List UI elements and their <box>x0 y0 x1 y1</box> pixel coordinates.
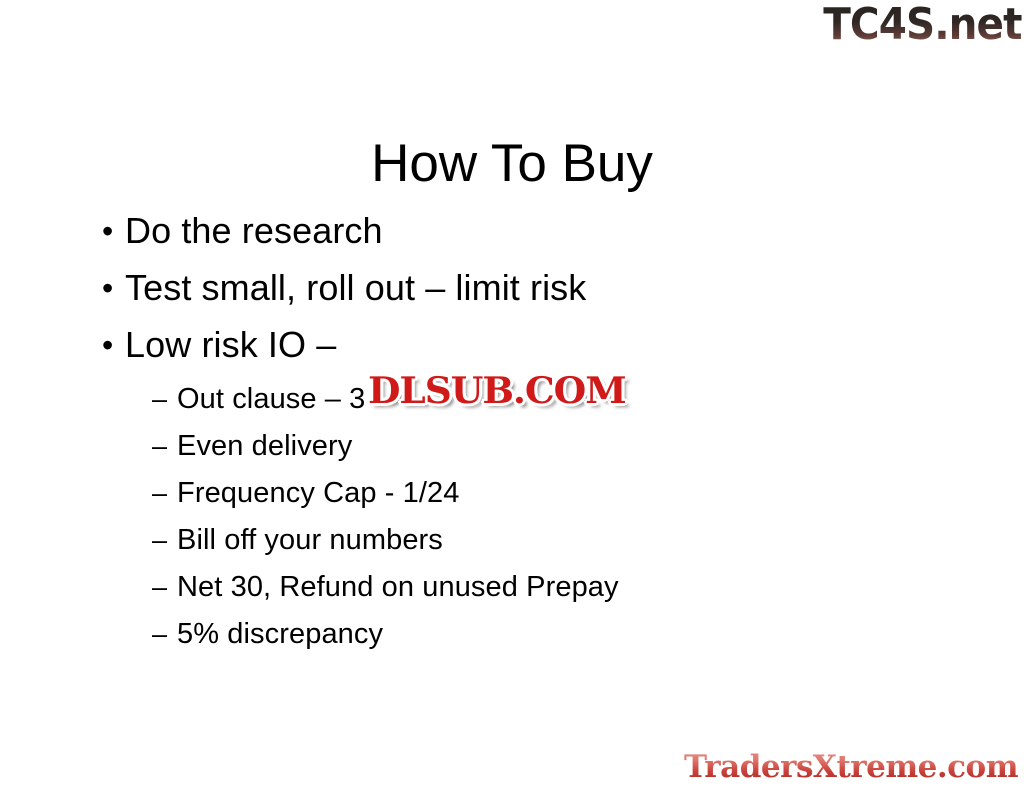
bullet-item: • Do the research <box>95 205 975 257</box>
sub-bullet-item: – Net 30, Refund on unused Prepay <box>95 564 975 611</box>
bullet-dot-icon: • <box>95 205 125 257</box>
sub-bullet-text: Frequency Cap - 1/24 <box>177 470 975 517</box>
tc4s-brand-logo: TC4S.net <box>824 2 1022 48</box>
bullet-list: • Do the research • Test small, roll out… <box>95 205 975 658</box>
sub-bullet-item: – Frequency Cap - 1/24 <box>95 470 975 517</box>
sub-bullet-item: – Out clause – 3 <box>95 376 975 423</box>
sub-bullet-item: – 5% discrepancy <box>95 611 975 658</box>
sub-bullet-text: Out clause – 3 <box>177 376 975 423</box>
bullet-text: Test small, roll out – limit risk <box>125 262 975 314</box>
sub-bullet-dash-icon: – <box>95 470 177 517</box>
sub-bullet-text: 5% discrepancy <box>177 611 975 658</box>
bullet-item: • Test small, roll out – limit risk <box>95 262 975 314</box>
tradersxtreme-watermark-text: TradersXtreme.com <box>684 749 1018 785</box>
slide-canvas: TC4S.net How To Buy • Do the research • … <box>0 0 1024 791</box>
bullet-dot-icon: • <box>95 319 125 371</box>
sub-bullet-dash-icon: – <box>95 423 177 470</box>
sub-bullet-dash-icon: – <box>95 611 177 658</box>
sub-bullet-dash-icon: – <box>95 564 177 611</box>
sub-bullet-text: Bill off your numbers <box>177 517 975 564</box>
tradersxtreme-watermark: TradersXtreme.com TradersXtreme.com <box>684 747 1018 787</box>
sub-bullet-list: – Out clause – 3 – Even delivery – Frequ… <box>95 376 975 658</box>
sub-bullet-text: Net 30, Refund on unused Prepay <box>177 564 975 611</box>
bullet-dot-icon: • <box>95 262 125 314</box>
bullet-text: Do the research <box>125 205 975 257</box>
sub-bullet-item: – Even delivery <box>95 423 975 470</box>
sub-bullet-item: – Bill off your numbers <box>95 517 975 564</box>
sub-bullet-dash-icon: – <box>95 517 177 564</box>
slide-title: How To Buy <box>0 134 1024 194</box>
sub-bullet-dash-icon: – <box>95 376 177 423</box>
bullet-text: Low risk IO – <box>125 319 975 371</box>
sub-bullet-text: Even delivery <box>177 423 975 470</box>
bullet-item: • Low risk IO – <box>95 319 975 371</box>
